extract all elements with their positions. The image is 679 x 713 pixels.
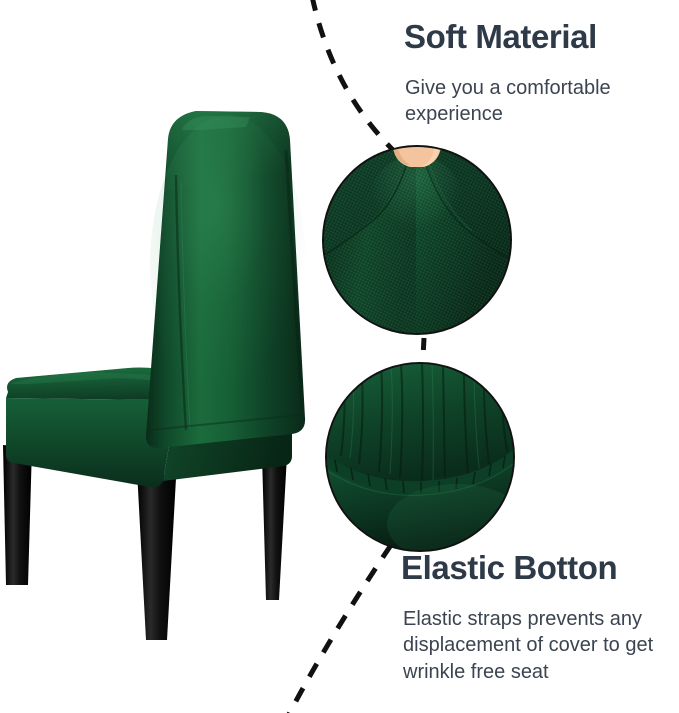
dashed-arc-bottom: [288, 545, 391, 713]
callout-circle-soft-material: [322, 145, 512, 335]
dashed-link-mid: [423, 338, 424, 358]
feature-description-elastic-bottom: Elastic straps prevents any displacement…: [403, 606, 665, 685]
feature-heading-soft-material: Soft Material: [404, 20, 597, 55]
dashed-arc-top: [312, 0, 395, 152]
feature-description-soft-material: Give you a comfortable experience: [405, 75, 667, 128]
feature-heading-elastic-bottom: Elastic Botton: [401, 551, 617, 586]
product-feature-infographic: Soft Material Give you a comfortable exp…: [0, 0, 679, 713]
callout-circle-elastic-bottom: [325, 362, 515, 552]
